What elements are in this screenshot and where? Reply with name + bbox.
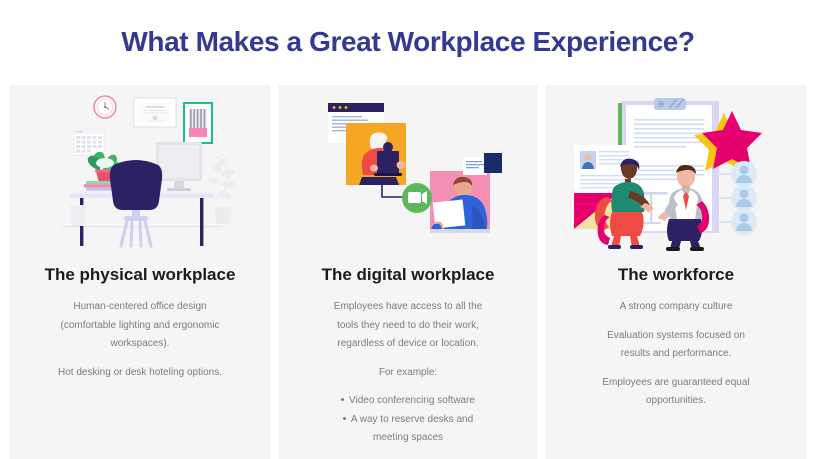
green-framed-poster bbox=[184, 103, 212, 143]
card-heading-digital: The digital workplace bbox=[322, 265, 495, 285]
wall-calendar bbox=[74, 129, 104, 155]
floor-plant bbox=[208, 157, 237, 224]
video-tile-pink bbox=[430, 153, 502, 233]
card-workforce[interactable]: The workforce A strong company culture E… bbox=[546, 85, 806, 459]
card-heading-physical: The physical workplace bbox=[45, 265, 236, 285]
book-stack bbox=[84, 181, 114, 191]
card-heading-workforce: The workforce bbox=[618, 265, 734, 285]
columns-container: The physical workplace Human-centered of… bbox=[10, 85, 806, 459]
paragraph: Employees have access to all the tools t… bbox=[300, 298, 516, 354]
card-body-physical: Human-centered office design (comfortabl… bbox=[32, 298, 248, 382]
card-body-workforce: A strong company culture Evaluation syst… bbox=[568, 298, 784, 411]
interview-review-illustration bbox=[546, 85, 806, 257]
video-tile-yellow bbox=[346, 123, 406, 185]
paragraph: Employees are guaranteed equal opportuni… bbox=[568, 374, 784, 411]
wall-clock-icon bbox=[94, 96, 116, 118]
video-camera-icon bbox=[402, 183, 432, 213]
video-conference-illustration bbox=[278, 85, 538, 257]
list-item: A way to reserve desks and bbox=[300, 411, 516, 430]
waste-bin bbox=[70, 205, 86, 226]
list-item-continuation: meeting spaces bbox=[300, 429, 516, 448]
office-chair bbox=[110, 160, 162, 246]
paragraph: Human-centered office design (comfortabl… bbox=[32, 298, 248, 354]
bullet-dot-icon bbox=[341, 398, 344, 401]
example-bullet-list: Video conferencing software A way to res… bbox=[300, 392, 516, 448]
card-physical-workplace[interactable]: The physical workplace Human-centered of… bbox=[10, 85, 270, 459]
certificate-frame bbox=[134, 98, 176, 127]
card-body-digital: Employees have access to all the tools t… bbox=[300, 298, 516, 448]
desktop-monitor bbox=[156, 142, 202, 191]
page-title: What Makes a Great Workplace Experience? bbox=[0, 26, 816, 58]
paragraph: Hot desking or desk hoteling options. bbox=[32, 364, 248, 383]
paragraph: Evaluation systems focused on results an… bbox=[568, 327, 784, 364]
list-item: Video conferencing software bbox=[300, 392, 516, 411]
paragraph: For example: bbox=[300, 364, 516, 383]
card-digital-workplace[interactable]: The digital workplace Employees have acc… bbox=[278, 85, 538, 459]
paragraph: A strong company culture bbox=[568, 298, 784, 317]
bullet-dot-icon bbox=[343, 417, 346, 420]
clipboard-clip bbox=[654, 98, 686, 110]
slide-root: What Makes a Great Workplace Experience? bbox=[0, 0, 816, 459]
office-desk-illustration bbox=[10, 85, 270, 257]
desk-leg-right bbox=[200, 198, 203, 246]
